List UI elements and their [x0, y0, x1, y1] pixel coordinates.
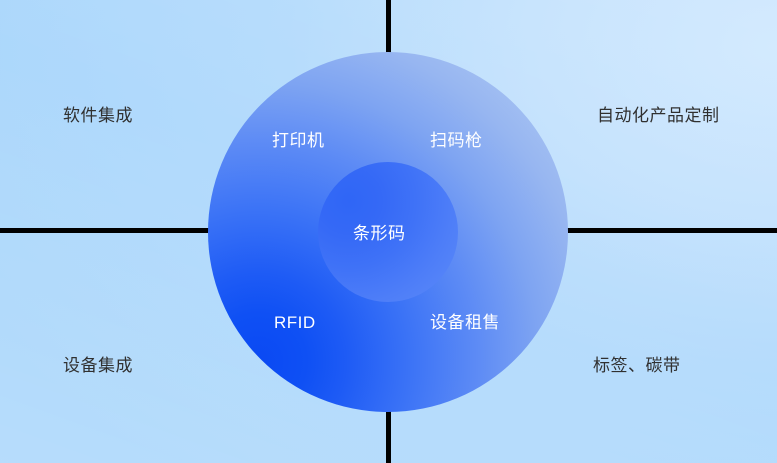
diagram-canvas: 软件集成 自动化产品定制 设备集成 标签、碳带 打印机 扫码枪 RFID 设备租…	[0, 0, 777, 463]
inner-label-top-right: 扫码枪	[430, 132, 483, 149]
center-label: 条形码	[353, 225, 406, 242]
inner-label-bottom-left: RFID	[274, 314, 316, 331]
inner-label-bottom-right: 设备租售	[430, 314, 500, 331]
outer-label-top-left: 软件集成	[63, 107, 133, 124]
outer-label-top-right: 自动化产品定制	[597, 107, 720, 124]
inner-label-top-left: 打印机	[272, 132, 325, 149]
outer-label-bottom-left: 设备集成	[63, 357, 133, 374]
outer-label-bottom-right: 标签、碳带	[593, 357, 681, 374]
